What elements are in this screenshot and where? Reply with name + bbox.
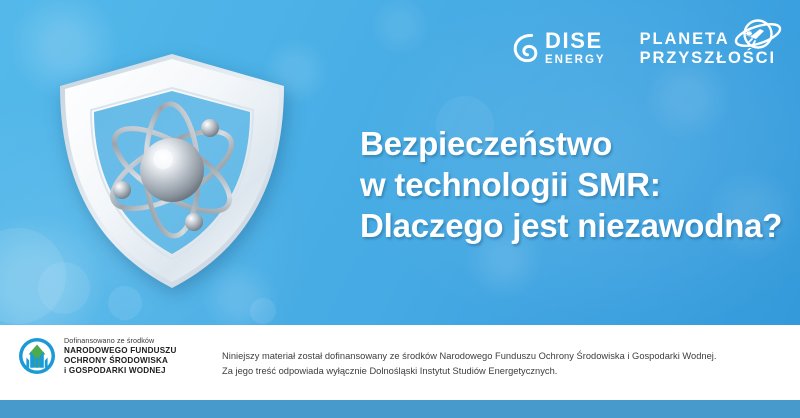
atom-electron: [185, 213, 203, 231]
bottom-accent-bar: [0, 400, 800, 418]
shield-atom-graphic: [52, 46, 292, 296]
nfos-line-3: OCHRONY ŚRODOWISKA: [64, 356, 177, 366]
shield-icon: [52, 46, 292, 296]
bokeh-circle: [250, 298, 276, 324]
headline-line-1: Bezpieczeństwo: [360, 124, 780, 165]
dise-wordmark: DISE ENERGY: [545, 30, 606, 67]
planeta-przyszlosci-logo[interactable]: PLANETA PRZYSZŁOŚCI: [640, 30, 776, 69]
disclaimer-line-1: Niniejszy materiał został dofinansowany …: [222, 349, 782, 364]
funding-disclaimer: Niniejszy materiał został dofinansowany …: [222, 349, 782, 379]
partner-logos: DISE ENERGY PLANETA PRZYSZŁOŚCI: [513, 30, 776, 69]
headline-line-2: w technologii SMR:: [360, 165, 780, 206]
atom-electron: [201, 119, 219, 137]
dise-swirl-icon: [513, 33, 538, 63]
headline-line-3: Dlaczego jest niezawodna?: [360, 206, 780, 247]
nfosigw-emblem-icon: [18, 337, 56, 375]
nfos-line-1: Dofinansowano ze środków: [64, 337, 177, 346]
dise-subtitle: ENERGY: [545, 55, 606, 67]
disclaimer-line-2: Za jego treść odpowiada wyłącznie Dolnoś…: [222, 364, 782, 379]
headline: Bezpieczeństwo w technologii SMR: Dlacze…: [360, 124, 780, 247]
dise-energy-logo[interactable]: DISE ENERGY: [513, 30, 606, 67]
atom-nucleus: [140, 138, 204, 202]
planet-with-ring-icon: [730, 16, 784, 56]
nfos-line-4: i GOSPODARKI WODNEJ: [64, 366, 177, 376]
footer: Dofinansowano ze środków NARODOWEGO FUND…: [0, 325, 800, 400]
nfosigw-wordmark: Dofinansowano ze środków NARODOWEGO FUND…: [64, 337, 177, 375]
promo-banner: DISE ENERGY PLANETA PRZYSZŁOŚCI Bezpiecz…: [0, 0, 800, 418]
atom-electron: [113, 181, 131, 199]
nfos-line-2: NARODOWEGO FUNDUSZU: [64, 346, 177, 356]
dise-title: DISE: [545, 30, 606, 52]
nfosigw-funding-logo: Dofinansowano ze środków NARODOWEGO FUND…: [18, 337, 177, 375]
